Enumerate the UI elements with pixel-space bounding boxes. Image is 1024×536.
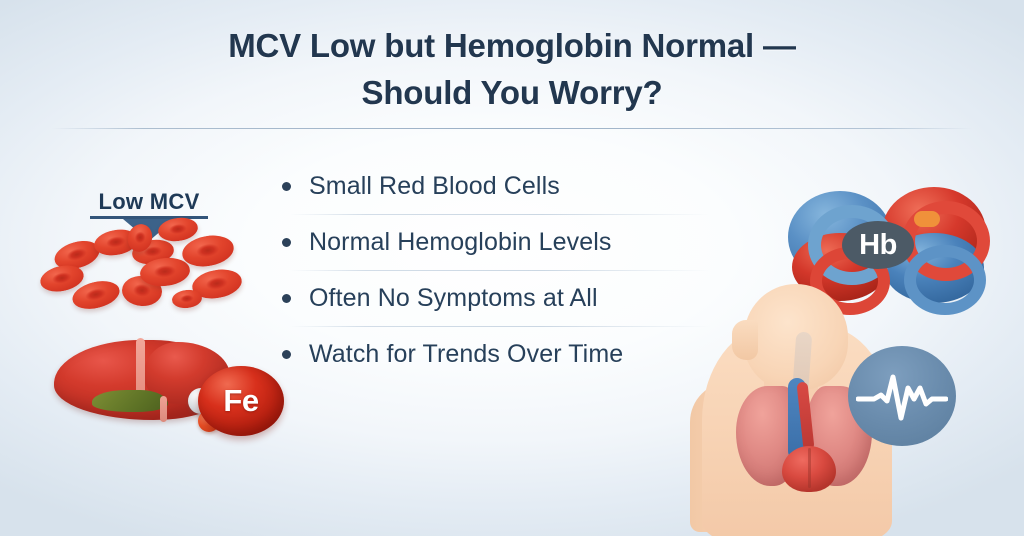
iron-fe-label: Fe	[223, 383, 258, 419]
bullet-dot-icon	[282, 238, 291, 247]
list-item-label: Normal Hemoglobin Levels	[309, 228, 612, 257]
bullet-dot-icon	[282, 294, 291, 303]
bullet-dot-icon	[282, 182, 291, 191]
title-line-1: MCV Low but Hemoglobin Normal —	[0, 22, 1024, 69]
torso-face-profile	[732, 320, 758, 360]
iron-fe-badge: Fe	[198, 366, 284, 436]
page-title: MCV Low but Hemoglobin Normal — Should Y…	[0, 22, 1024, 116]
title-line-2: Should You Worry?	[0, 69, 1024, 116]
red-blood-cells-illustration	[40, 228, 260, 333]
hemoglobin-label-badge: Hb	[842, 221, 914, 269]
ecg-heartbeat-icon	[848, 346, 956, 446]
list-item: Watch for Trends Over Time	[282, 326, 722, 382]
heart-ventricle-divider	[808, 448, 811, 488]
hemoglobin-heme-group	[914, 211, 940, 227]
title-divider	[52, 128, 972, 129]
key-points-list: Small Red Blood Cells Normal Hemoglobin …	[282, 158, 722, 382]
list-item-label: Watch for Trends Over Time	[309, 340, 623, 369]
gallbladder-icon	[92, 390, 168, 412]
human-anatomy-illustration	[690, 286, 990, 536]
list-item-label: Small Red Blood Cells	[309, 172, 560, 201]
list-item: Often No Symptoms at All	[282, 270, 722, 326]
low-mcv-label-text: Low MCV	[84, 190, 214, 214]
liver-ligament	[136, 338, 145, 396]
liver-iron-illustration: Fe	[48, 334, 288, 442]
list-item-label: Often No Symptoms at All	[309, 284, 598, 313]
red-blood-cell	[171, 288, 203, 309]
hemoglobin-label-text: Hb	[859, 229, 897, 262]
list-item: Small Red Blood Cells	[282, 158, 722, 214]
list-item: Normal Hemoglobin Levels	[282, 214, 722, 270]
bile-duct	[160, 396, 167, 422]
infographic-slide: MCV Low but Hemoglobin Normal — Should Y…	[0, 0, 1024, 536]
